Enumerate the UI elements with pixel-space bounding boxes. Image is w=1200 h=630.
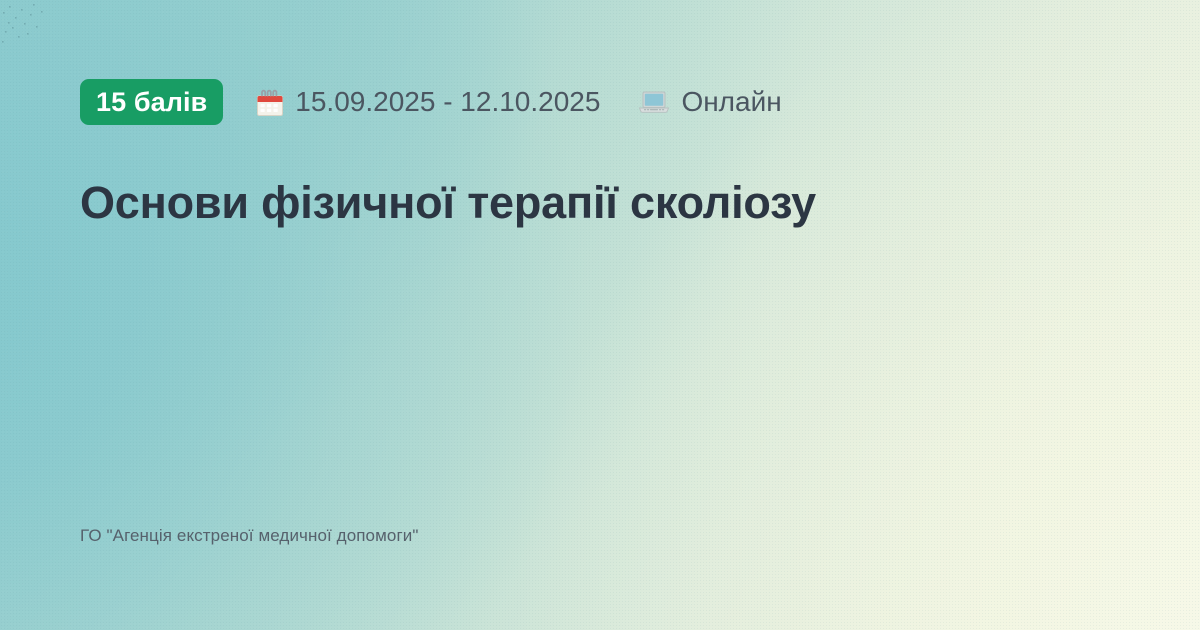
course-meta-row: 15 балів: [80, 79, 782, 125]
course-format-text: Онлайн: [681, 88, 781, 116]
calendar-icon: [256, 87, 284, 117]
points-badge: 15 балів: [80, 79, 223, 125]
course-dates-text: 15.09.2025 - 12.10.2025: [295, 88, 600, 116]
course-format: Онлайн: [638, 88, 781, 116]
course-title: Основи фізичної терапії сколіозу: [80, 176, 1080, 229]
laptop-icon: [638, 89, 670, 115]
organizer-name: ГО "Агенція екстреної медичної допомоги": [80, 525, 419, 547]
course-card: 15 балів: [0, 0, 1200, 630]
card-content: 15 балів: [0, 0, 1200, 630]
course-dates: 15.09.2025 - 12.10.2025: [256, 87, 600, 117]
